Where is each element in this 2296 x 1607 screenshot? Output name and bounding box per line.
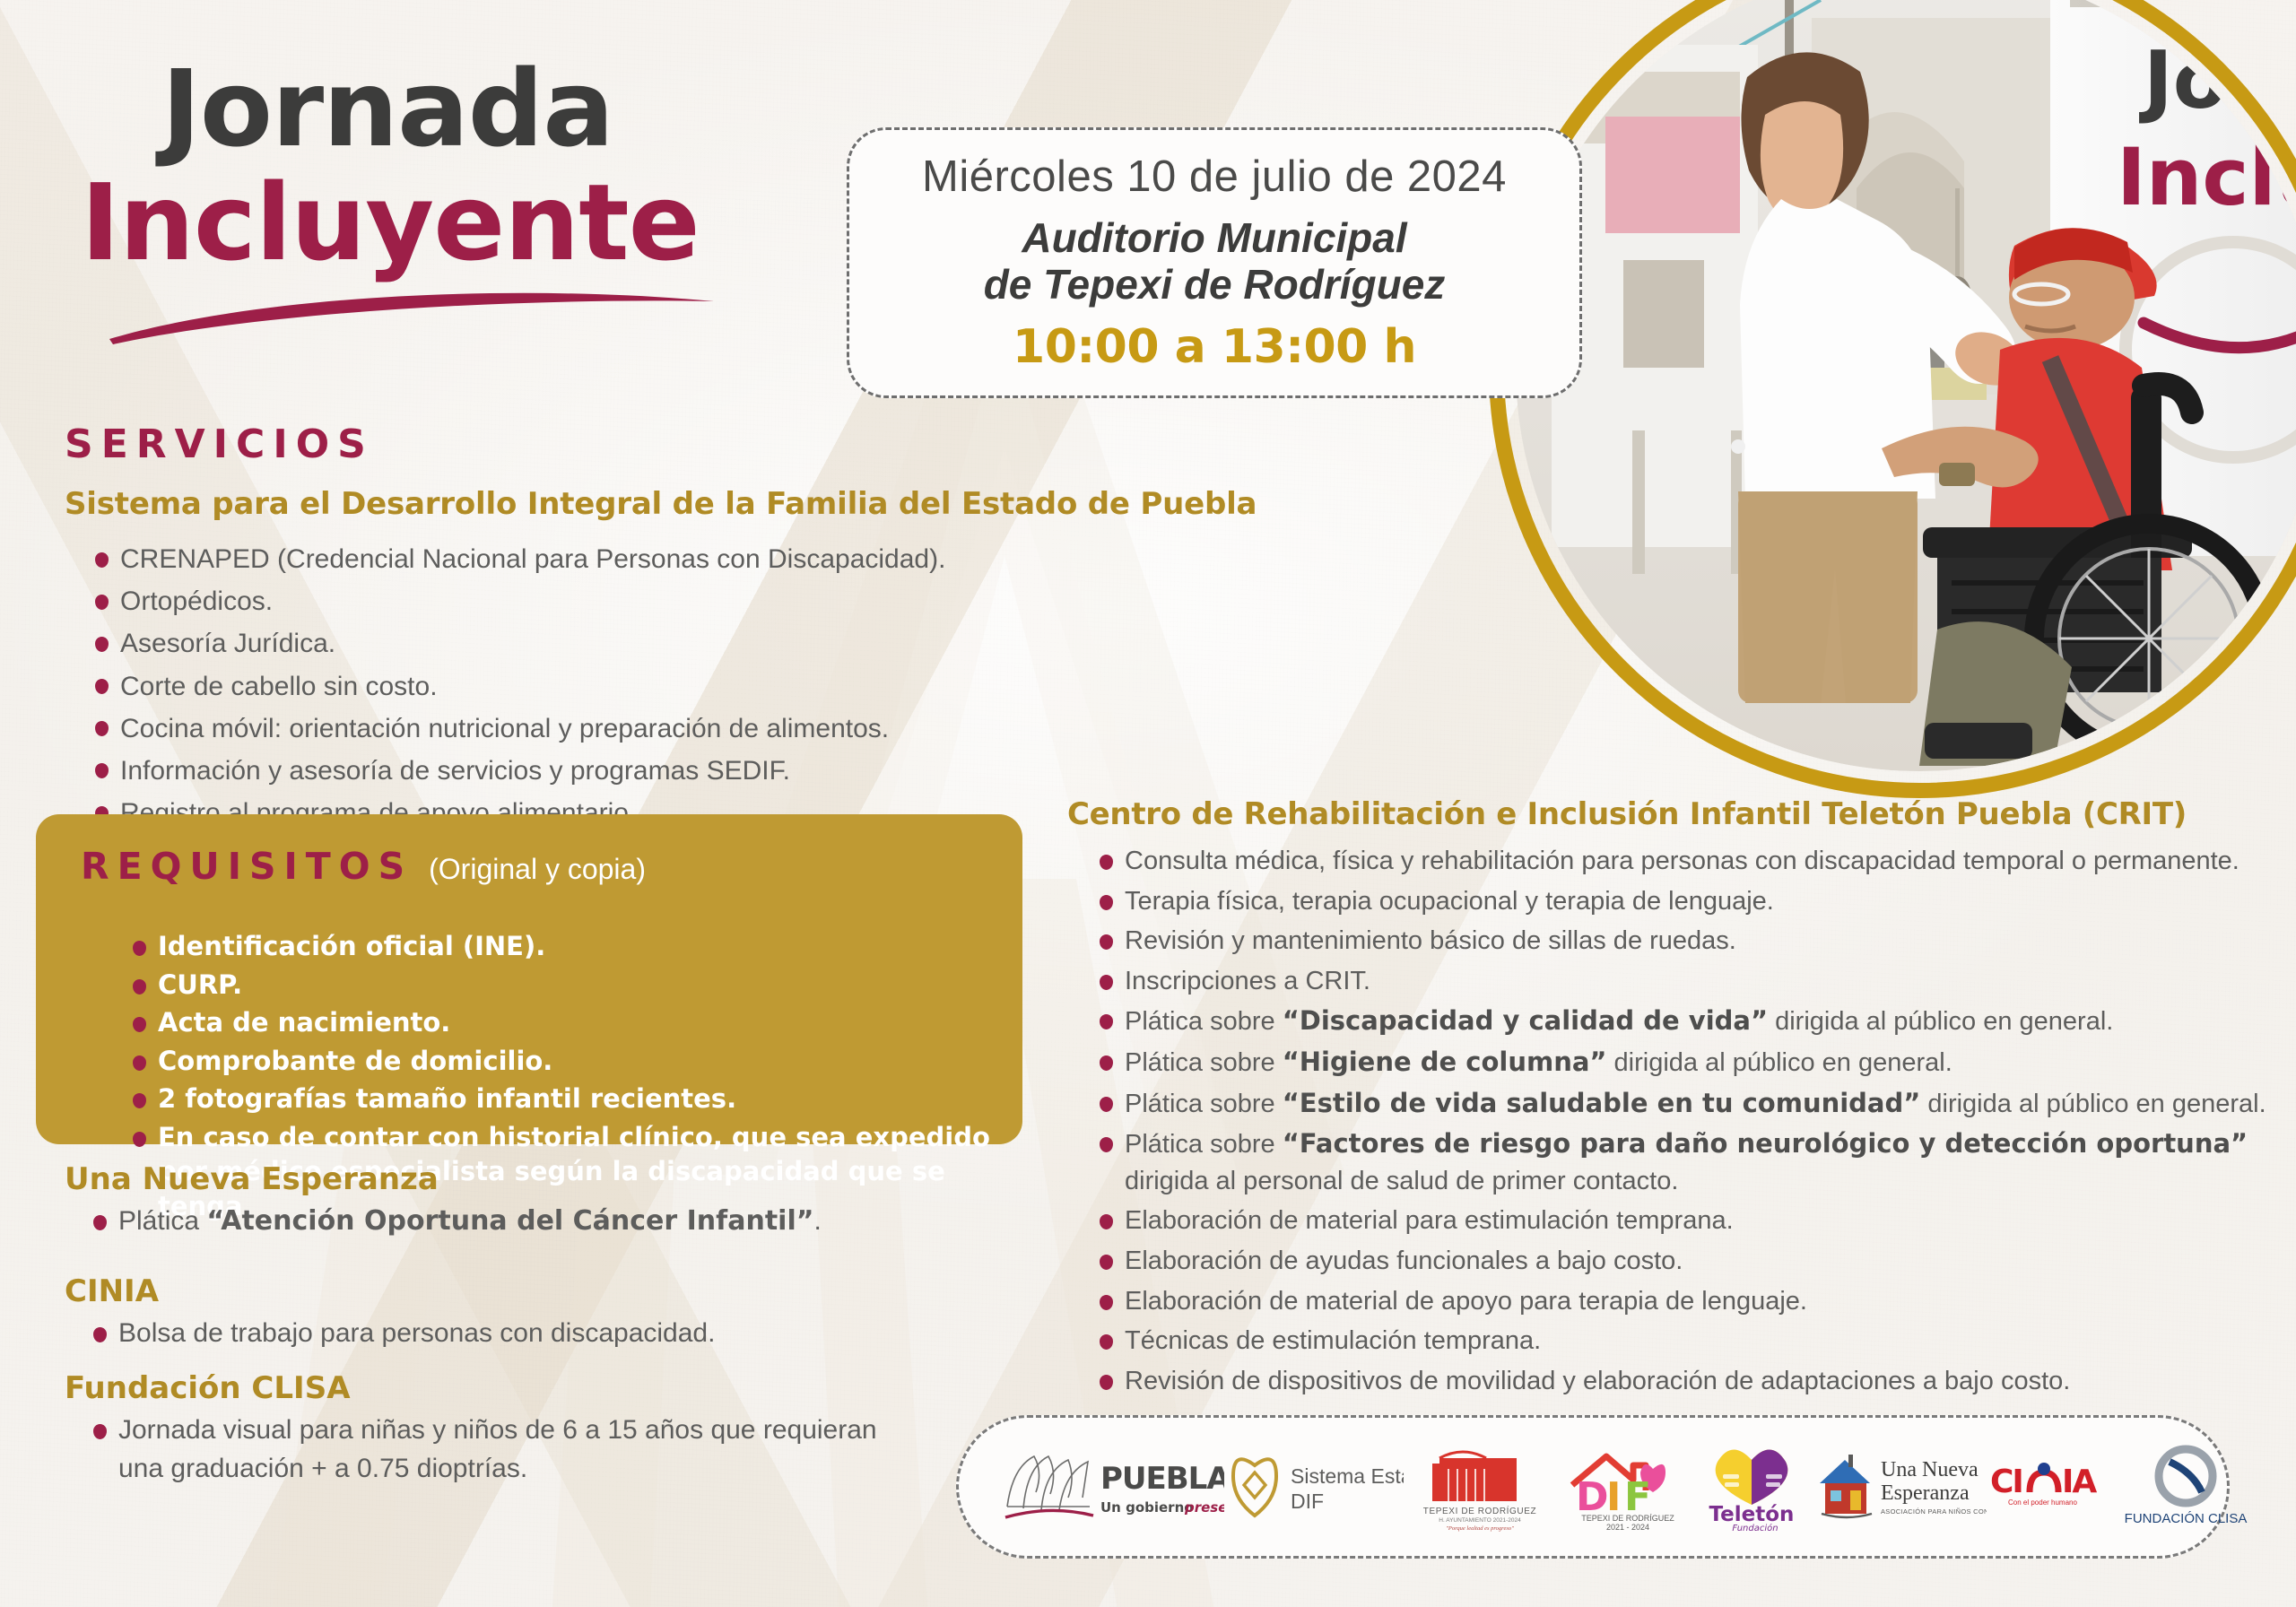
svg-text:Una Nueva: Una Nueva <box>1881 1458 1979 1481</box>
bullet-dot-icon <box>133 941 146 956</box>
svg-text:"Porque lealtad es progreso": "Porque lealtad es progreso" <box>1446 1525 1514 1532</box>
crit-list-item: Elaboración de material para estimulació… <box>1092 1203 2285 1239</box>
requisitos-list-item: Acta de nacimiento. <box>126 1005 1004 1040</box>
crit-list-item-text: Elaboración de material para estimulació… <box>1125 1206 1734 1235</box>
requisitos-list-item: 2 fotografías tamaño infantil recientes. <box>126 1081 1004 1116</box>
bullet-dot-icon <box>95 595 109 610</box>
svg-text:PUEBLA: PUEBLA <box>1100 1461 1224 1497</box>
servicios-list-item-text: Corte de cabello sin costo. <box>120 672 438 701</box>
partner-heading-clisa: Fundación CLISA <box>65 1370 926 1406</box>
crit-list-item-text: Revisión y mantenimiento básico de silla… <box>1125 926 1736 955</box>
svg-text:Esperanza: Esperanza <box>1881 1481 1970 1505</box>
title-swoosh-underline <box>99 285 717 348</box>
requisitos-list-item-text: 2 fotografías tamaño infantil recientes. <box>158 1083 736 1114</box>
poster-title: Jornada Incluyente <box>161 56 843 276</box>
partner-list-cinia: Bolsa de trabajo para personas con disca… <box>88 1315 890 1353</box>
bullet-dot-icon <box>133 1093 146 1108</box>
requisitos-box: REQUISITOS (Original y copia) Identifica… <box>36 814 1022 1144</box>
requisitos-list-item-text: CURP. <box>158 969 242 1000</box>
servicios-list-item: Asesoría Jurídica. <box>88 624 1146 663</box>
crit-list-item: Plática sobre “Discapacidad y calidad de… <box>1092 1003 2285 1040</box>
event-photo: PUEBLA Jorn Incluy <box>1489 0 2296 798</box>
servicios-heading: SERVICIOS <box>65 421 374 467</box>
crit-list-item: Terapia física, terapia ocupacional y te… <box>1092 883 2285 920</box>
crit-list-item: Inscripciones a CRIT. <box>1092 963 2285 1000</box>
servicios-list-item-text: Cocina móvil: orientación nutricional y … <box>120 714 889 743</box>
dif-tepexi-logo: D I F TEPEXI DE RODRÍGUEZ 2021 - 2024 <box>1556 1442 1700 1532</box>
bullet-dot-icon <box>1100 975 1113 990</box>
crit-list-item-text: Plática sobre “Estilo de vida saludable … <box>1125 1090 2266 1118</box>
servicios-list-item: Ortopédicos. <box>88 582 1146 621</box>
crit-list-item-text: Elaboración de material de apoyo para te… <box>1125 1287 1807 1316</box>
svg-text:TEPEXI DE RODRÍGUEZ: TEPEXI DE RODRÍGUEZ <box>1581 1514 1674 1523</box>
svg-text:presente: presente <box>1184 1499 1224 1516</box>
servicios-list: CRENAPED (Credencial Nacional para Perso… <box>88 540 1146 836</box>
tepexi-ayuntamiento-logo: TEPEXI DE RODRÍGUEZ H. AYUNTAMIENTO 2021… <box>1404 1442 1556 1532</box>
requisitos-heading: REQUISITOS <box>81 845 413 888</box>
bullet-dot-icon <box>133 1017 146 1032</box>
svg-text:Con el poder humano: Con el poder humano <box>2008 1498 2077 1507</box>
crit-list-item-text: Plática sobre “Higiene de columna” dirig… <box>1125 1048 1952 1077</box>
partner-una-nueva-esperanza: Una Nueva Esperanza Plática “Atención Op… <box>65 1161 890 1241</box>
svg-text:DIF: DIF <box>1291 1490 1324 1513</box>
crit-list-item: Consulta médica, física y rehabilitación… <box>1092 843 2285 880</box>
requisitos-note: (Original y copia) <box>429 853 646 886</box>
event-venue-line-1: Auditorio Municipal <box>984 214 1446 261</box>
svg-text:IA: IA <box>2062 1464 2097 1500</box>
crit-list-item: Plática sobre “Higiene de columna” dirig… <box>1092 1044 2285 1081</box>
crit-list-item: Elaboración de material de apoyo para te… <box>1092 1283 2285 1320</box>
puebla-gobierno-logo: PUEBLA Un gobierno presente <box>1000 1444 1224 1530</box>
bullet-dot-icon <box>93 1327 107 1342</box>
requisitos-list-item: Comprobante de domicilio. <box>126 1044 1004 1079</box>
bullet-dot-icon <box>133 1132 146 1147</box>
crit-list-item-text: Elaboración de ayudas funcionales a bajo… <box>1125 1247 1683 1275</box>
partner-list-une: Plática “Atención Oportuna del Cáncer In… <box>88 1203 890 1241</box>
servicios-list-item: Corte de cabello sin costo. <box>88 667 1146 706</box>
poster-root: PUEBLA Jorn Incluy <box>0 0 2296 1607</box>
svg-text:Un gobierno: Un gobierno <box>1100 1499 1194 1516</box>
requisitos-list-item-text: Acta de nacimiento. <box>158 1007 450 1038</box>
bullet-dot-icon <box>1100 1014 1113 1029</box>
partner-fundacion-clisa: Fundación CLISA Jornada visual para niña… <box>65 1370 926 1488</box>
crit-list-item: Revisión y mantenimiento básico de silla… <box>1092 923 2285 960</box>
bullet-dot-icon <box>95 763 109 778</box>
bullet-dot-icon <box>1100 1055 1113 1071</box>
event-info-card: Miércoles 10 de julio de 2024 Auditorio … <box>847 127 1582 398</box>
crit-list-item-text: Plática sobre “Discapacidad y calidad de… <box>1125 1007 2113 1036</box>
footer-logo-strip: PUEBLA Un gobierno presente Sistema Esta… <box>956 1415 2230 1559</box>
svg-text:CI: CI <box>1990 1464 2022 1500</box>
requisitos-header: REQUISITOS (Original y copia) <box>81 845 646 888</box>
crit-list-item: Técnicas de estimulación temprana. <box>1092 1323 2285 1359</box>
bullet-dot-icon <box>1100 1255 1113 1270</box>
svg-text:ASOCIACIÓN PARA NIÑOS CON CÁNC: ASOCIACIÓN PARA NIÑOS CON CÁNCER <box>1881 1507 1987 1516</box>
svg-text:H. AYUNTAMIENTO 2021-2024: H. AYUNTAMIENTO 2021-2024 <box>1439 1517 1521 1524</box>
requisitos-list-item-text: Comprobante de domicilio. <box>158 1046 552 1076</box>
bullet-dot-icon <box>133 1055 146 1071</box>
partner-list-clisa: Jornada visual para niñas y niños de 6 a… <box>88 1412 926 1488</box>
bullet-dot-icon <box>1100 1334 1113 1350</box>
cinia-logo: CI IA Con el poder humano <box>1987 1451 2121 1523</box>
requisitos-list-item: Identificación oficial (INE). <box>126 929 1004 964</box>
bullet-dot-icon <box>1100 1214 1113 1229</box>
event-venue-line-2: de Tepexi de Rodríguez <box>984 261 1446 308</box>
crit-list-item-text: Plática sobre “Factores de riesgo para d… <box>1125 1130 2248 1195</box>
fundacion-clisa-logo: FUNDACIÓN CLISA <box>2121 1442 2256 1532</box>
bullet-dot-icon <box>95 637 109 652</box>
crit-list: Consulta médica, física y rehabilitación… <box>1092 843 2285 1403</box>
svg-text:TEPEXI DE RODRÍGUEZ: TEPEXI DE RODRÍGUEZ <box>1423 1505 1536 1516</box>
bullet-dot-icon <box>95 721 109 736</box>
crit-list-item: Elaboración de ayudas funcionales a bajo… <box>1092 1243 2285 1280</box>
servicios-list-item-text: CRENAPED (Credencial Nacional para Perso… <box>120 544 945 574</box>
crit-list-item: Plática sobre “Estilo de vida saludable … <box>1092 1085 2285 1123</box>
requisitos-list-item-text: Identificación oficial (INE). <box>158 931 545 961</box>
clisa-list-item: Jornada visual para niñas y niños de 6 a… <box>88 1412 926 1488</box>
bullet-dot-icon <box>1100 1295 1113 1310</box>
servicios-list-item-text: Información y asesoría de servicios y pr… <box>120 756 790 786</box>
crit-list-item-text: Inscripciones a CRIT. <box>1125 967 1370 995</box>
bullet-dot-icon <box>93 1424 107 1439</box>
bullet-dot-icon <box>1100 1097 1113 1112</box>
crit-list-item-text: Técnicas de estimulación temprana. <box>1125 1326 1541 1355</box>
partner-cinia: CINIA Bolsa de trabajo para personas con… <box>65 1273 890 1353</box>
requisitos-list-item: CURP. <box>126 968 1004 1003</box>
crit-list-item-text: Terapia física, terapia ocupacional y te… <box>1125 887 1774 916</box>
bullet-dot-icon <box>95 552 109 568</box>
bullet-dot-icon <box>1100 895 1113 910</box>
bullet-dot-icon <box>1100 1137 1113 1152</box>
servicios-list-item: Información y asesoría de servicios y pr… <box>88 751 1146 790</box>
servicios-list-item: Cocina móvil: orientación nutricional y … <box>88 709 1146 748</box>
servicios-list-item-text: Ortopédicos. <box>120 586 273 616</box>
bullet-dot-icon <box>95 679 109 694</box>
une-list-item-text: Plática “Atención Oportuna del Cáncer In… <box>118 1206 822 1236</box>
crit-heading: Centro de Rehabilitación e Inclusión Inf… <box>1067 796 2287 832</box>
une-list-item: Plática “Atención Oportuna del Cáncer In… <box>88 1203 890 1241</box>
partner-heading-une: Una Nueva Esperanza <box>65 1161 890 1197</box>
crit-list-item-text: Consulta médica, física y rehabilitación… <box>1125 847 2239 875</box>
cinia-list-item: Bolsa de trabajo para personas con disca… <box>88 1315 890 1353</box>
una-nueva-esperanza-logo: Una Nueva Esperanza ASOCIACIÓN PARA NIÑO… <box>1807 1444 1987 1530</box>
sistema-estatal-dif-logo: Sistema Estatal DIF <box>1224 1446 1404 1528</box>
clisa-list-item-text: Jornada visual para niñas y niños de 6 a… <box>118 1415 877 1483</box>
svg-text:Sistema Estatal: Sistema Estatal <box>1291 1464 1404 1488</box>
crit-list-item-text: Revisión de dispositivos de movilidad y … <box>1125 1367 2070 1395</box>
svg-text:FUNDACIÓN CLISA: FUNDACIÓN CLISA <box>2125 1511 2248 1526</box>
partner-heading-cinia: CINIA <box>65 1273 890 1309</box>
event-date: Miércoles 10 de julio de 2024 <box>922 152 1507 202</box>
teleton-fundacion-logo: Teletón Fundación <box>1700 1440 1807 1533</box>
servicios-subheading: Sistema para el Desarrollo Integral de l… <box>65 486 1257 522</box>
svg-text:2021 - 2024: 2021 - 2024 <box>1606 1523 1649 1532</box>
title-line-1: Jornada <box>161 56 843 161</box>
servicios-list-item-text: Asesoría Jurídica. <box>120 629 335 658</box>
bullet-dot-icon <box>1100 934 1113 950</box>
title-line-2: Incluyente <box>81 169 843 276</box>
servicios-list-item: CRENAPED (Credencial Nacional para Perso… <box>88 540 1146 578</box>
cinia-list-item-text: Bolsa de trabajo para personas con disca… <box>118 1318 715 1348</box>
svg-text:Fundación: Fundación <box>1732 1523 1778 1533</box>
bullet-dot-icon <box>1100 1375 1113 1390</box>
bullet-dot-icon <box>93 1215 107 1230</box>
crit-list-item: Plática sobre “Factores de riesgo para d… <box>1092 1125 2285 1199</box>
bullet-dot-icon <box>133 979 146 995</box>
crit-list-item: Revisión de dispositivos de movilidad y … <box>1092 1363 2285 1400</box>
bullet-dot-icon <box>1100 855 1113 870</box>
event-time: 10:00 a 13:00 h <box>1013 320 1416 374</box>
event-venue: Auditorio Municipal de Tepexi de Rodrígu… <box>984 214 1446 308</box>
